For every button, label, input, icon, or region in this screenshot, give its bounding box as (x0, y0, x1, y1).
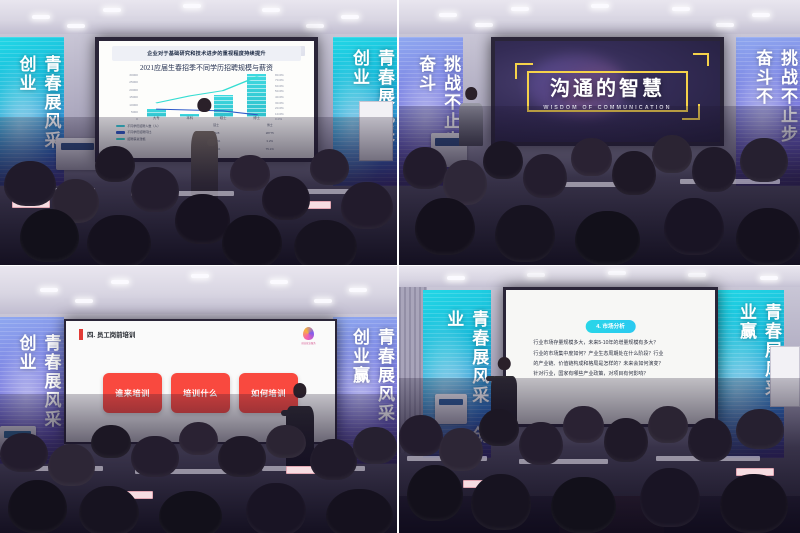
slide-pill-title: 4. 市场分析 (585, 320, 636, 333)
audience-head (131, 436, 179, 478)
audience-head (403, 147, 447, 188)
chart-y-axis-right: 80.0% 70.0% 60.0% 50.0% 40.0% 30.0% 20.0… (274, 73, 290, 122)
audience-head (48, 444, 96, 486)
y-tick: 5000 (131, 110, 138, 114)
audience-head (79, 486, 139, 533)
y2-tick: 60.0% (275, 84, 284, 88)
audience-head (740, 138, 788, 183)
flame-logo-icon (303, 327, 314, 340)
audience-head (310, 439, 358, 481)
y2-tick: 70.0% (275, 78, 284, 82)
audience-head (688, 418, 732, 461)
audience (399, 378, 800, 533)
audience-head (519, 422, 563, 465)
title-tick-icon (79, 329, 83, 340)
slide-body-line: 行业市场存量规模多大，未来5-10年的增量规模有多大？ (533, 338, 692, 348)
audience-head (87, 215, 151, 266)
presenter-head (498, 357, 511, 371)
ceiling (399, 0, 800, 37)
y-tick: 30000 (129, 73, 138, 77)
presenter-head (465, 87, 477, 100)
audience-head (495, 205, 555, 262)
audience-head (246, 483, 306, 533)
audience-head (353, 427, 397, 463)
photo-collage: 青春展风采 创业 青春展风采 创业 企业对于基础研究和技术进步的重视程度持续提升 (0, 0, 800, 533)
audience-head (471, 474, 531, 530)
y2-tick: 20.0% (275, 106, 284, 110)
audience-head (218, 436, 266, 478)
y2-tick: 30.0% (275, 101, 284, 105)
audience-head (262, 176, 310, 221)
panel-training-lecture: 青春展风采 创业 青春展风采 创业赢 四. 员工岗前培训 创业就业服务 (0, 266, 399, 533)
audience-head (563, 406, 603, 443)
audience-head (0, 433, 48, 472)
audience-head (179, 422, 219, 455)
slide-body-line: 行业的市场集中度如何？产业生态周期处在什么阶段？行业 (533, 349, 692, 359)
panel-market-analysis-lecture: 青春展风采 创业 青春展风采 创业赢 4. 市场分析 行业市场存量规模多大，未来… (399, 266, 800, 533)
y2-tick: 50.0% (275, 89, 284, 93)
slide-section-title: 四. 员工岗前培训 (79, 329, 135, 340)
panel-communication-lecture: 挑战不止步 奋斗 挑战不止步 奋斗不 沟通的智慧 (399, 0, 800, 266)
slide-section-title-text: 四. 员工岗前培训 (87, 330, 135, 339)
audience-head (222, 215, 282, 266)
slide-title-cn: 沟通的智慧 (550, 72, 665, 101)
audience (0, 117, 397, 265)
audience-head (20, 209, 80, 262)
audience-head (4, 161, 56, 206)
presenter-head (198, 98, 211, 112)
audience-head (640, 468, 700, 527)
audience-head (664, 198, 724, 255)
y2-tick: 40.0% (275, 95, 284, 99)
lecture-room: 青春展风采 创业 青春展风采 创业赢 4. 市场分析 行业市场存量规模多大，未来… (399, 266, 800, 533)
audience-head (8, 480, 68, 533)
audience-head (612, 151, 656, 196)
audience-head (131, 167, 179, 212)
audience-head (326, 489, 393, 533)
audience-head (415, 198, 475, 255)
y-tick: 20000 (129, 88, 138, 92)
audience-head (439, 428, 483, 471)
slide-logo: 创业就业服务 (295, 326, 322, 345)
audience-head (551, 477, 615, 533)
audience-head (91, 425, 131, 458)
panel-chart-lecture: 青春展风采 创业 青春展风采 创业 企业对于基础研究和技术进步的重视程度持续提升 (0, 0, 399, 266)
ceiling (0, 266, 397, 317)
chart-y-axis-left: 30000 25000 20000 15000 10000 5000 0 (123, 73, 138, 122)
y2-tick: 10.0% (275, 112, 284, 116)
audience (0, 394, 397, 533)
audience-head (483, 141, 523, 179)
audience-head (95, 146, 135, 182)
audience-head (159, 491, 223, 533)
audience-head (736, 208, 800, 265)
slide-body: 行业市场存量规模多大，未来5-10年的增量规模有多大？ 行业的市场集中度如何？产… (533, 338, 692, 379)
audience-head (692, 147, 736, 192)
audience (399, 106, 800, 265)
audience-head (736, 409, 784, 449)
audience-head (479, 409, 519, 446)
audience-head (399, 415, 443, 455)
audience-head (266, 425, 306, 458)
frame-corner-accent (693, 53, 708, 66)
lecture-room: 挑战不止步 奋斗 挑战不止步 奋斗不 沟通的智慧 (399, 0, 800, 265)
y-tick: 15000 (129, 95, 138, 99)
lecture-room: 青春展风采 创业 青春展风采 创业 企业对于基础研究和技术进步的重视程度持续提升 (0, 0, 397, 265)
slide-logo-caption: 创业就业服务 (301, 341, 315, 345)
audience-head (310, 149, 350, 185)
audience-head (294, 220, 358, 266)
y2-tick: 80.0% (275, 73, 284, 77)
audience-head (648, 406, 688, 443)
audience-head (604, 418, 648, 461)
audience-head (571, 138, 611, 176)
y-tick: 10000 (129, 103, 138, 107)
audience-head (523, 154, 567, 199)
audience-head (652, 135, 692, 173)
slide-body-line: 的产业链、价值链构成和格局是怎样的？未来会如何演变？ (533, 359, 692, 369)
audience-head (720, 474, 788, 533)
audience-head (230, 155, 270, 191)
audience-head (575, 211, 639, 265)
y-tick: 25000 (129, 80, 138, 84)
audience-head (407, 465, 463, 521)
audience-head (341, 182, 393, 229)
lecture-room: 青春展风采 创业 青春展风采 创业赢 四. 员工岗前培训 创业就业服务 (0, 266, 397, 533)
slide-header-text: 企业对于基础研究和技术进步的重视程度持续提升 (147, 50, 266, 57)
ceiling (0, 0, 397, 37)
slide-header-bar: 企业对于基础研究和技术进步的重视程度持续提升 (112, 46, 301, 61)
